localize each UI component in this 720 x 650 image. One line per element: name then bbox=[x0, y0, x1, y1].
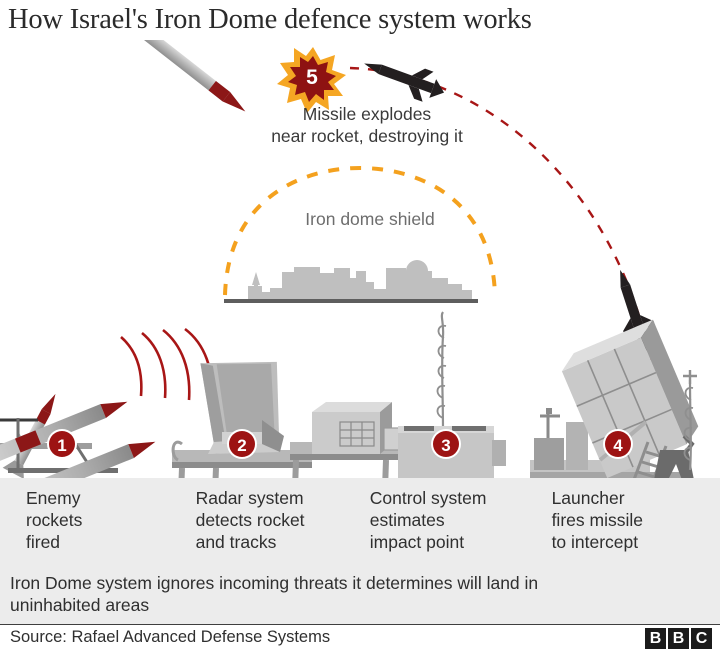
step-badge-4: 4 bbox=[613, 436, 623, 455]
step-label-3-line1: Control system bbox=[370, 487, 552, 509]
step-badge-2: 2 bbox=[237, 436, 246, 455]
infographic-root: How Israel's Iron Dome defence system wo… bbox=[0, 0, 720, 650]
page-title: How Israel's Iron Dome defence system wo… bbox=[8, 4, 714, 36]
bbc-logo-b1: B bbox=[645, 628, 666, 649]
step-labels-row: Enemy rockets fired Radar system detects… bbox=[0, 484, 720, 570]
step-label-4: Launcher fires missile to intercept bbox=[552, 484, 720, 570]
iron-dome-shield-label: Iron dome shield bbox=[240, 209, 500, 230]
step4-missile-launcher: 4 bbox=[530, 320, 703, 478]
step2-radar-system: 2 bbox=[172, 354, 420, 478]
step-label-3-line2: estimates bbox=[370, 509, 552, 531]
interceptor-missile-upper bbox=[359, 48, 450, 107]
radar-waves bbox=[121, 329, 212, 401]
footnote-line1: Iron Dome system ignores incoming threat… bbox=[10, 572, 710, 594]
step-label-4-line3: to intercept bbox=[552, 531, 720, 553]
step3-control-system: 3 bbox=[398, 312, 506, 478]
step-label-3: Control system estimates impact point bbox=[370, 484, 552, 570]
step-label-2: Radar system detects rocket and tracks bbox=[191, 484, 370, 570]
step-badge-3: 3 bbox=[441, 436, 450, 455]
source-credit: Source: Rafael Advanced Defense Systems bbox=[10, 628, 330, 647]
step-label-2-line3: and tracks bbox=[196, 531, 370, 553]
footnote-line2: uninhabited areas bbox=[10, 594, 710, 616]
bbc-logo-b2: B bbox=[668, 628, 689, 649]
bbc-logo: B B C bbox=[645, 628, 712, 649]
skyline-ground-line bbox=[224, 299, 478, 303]
step-label-1-line2: rockets bbox=[26, 509, 191, 531]
step-label-1: Enemy rockets fired bbox=[0, 484, 191, 570]
step1-rocket-launcher: 1 bbox=[0, 387, 161, 478]
step-label-4-line1: Launcher bbox=[552, 487, 720, 509]
step-label-2-line1: Radar system bbox=[196, 487, 370, 509]
step-label-4-line2: fires missile bbox=[552, 509, 720, 531]
footer-divider bbox=[0, 624, 720, 625]
bbc-logo-c: C bbox=[691, 628, 712, 649]
footnote: Iron Dome system ignores incoming threat… bbox=[10, 572, 710, 617]
explosion-callout-line2: near rocket, destroying it bbox=[222, 126, 512, 148]
step-label-1-line1: Enemy bbox=[26, 487, 191, 509]
step-label-3-line3: impact point bbox=[370, 531, 552, 553]
step-label-1-line3: fired bbox=[26, 531, 191, 553]
step-label-2-line2: detects rocket bbox=[196, 509, 370, 531]
step-badge-5: 5 bbox=[306, 66, 318, 89]
city-skyline bbox=[248, 260, 472, 300]
step-badge-1: 1 bbox=[57, 436, 66, 455]
explosion-callout: Missile explodes near rocket, destroying… bbox=[222, 104, 512, 148]
explosion-callout-line1: Missile explodes bbox=[222, 104, 512, 126]
